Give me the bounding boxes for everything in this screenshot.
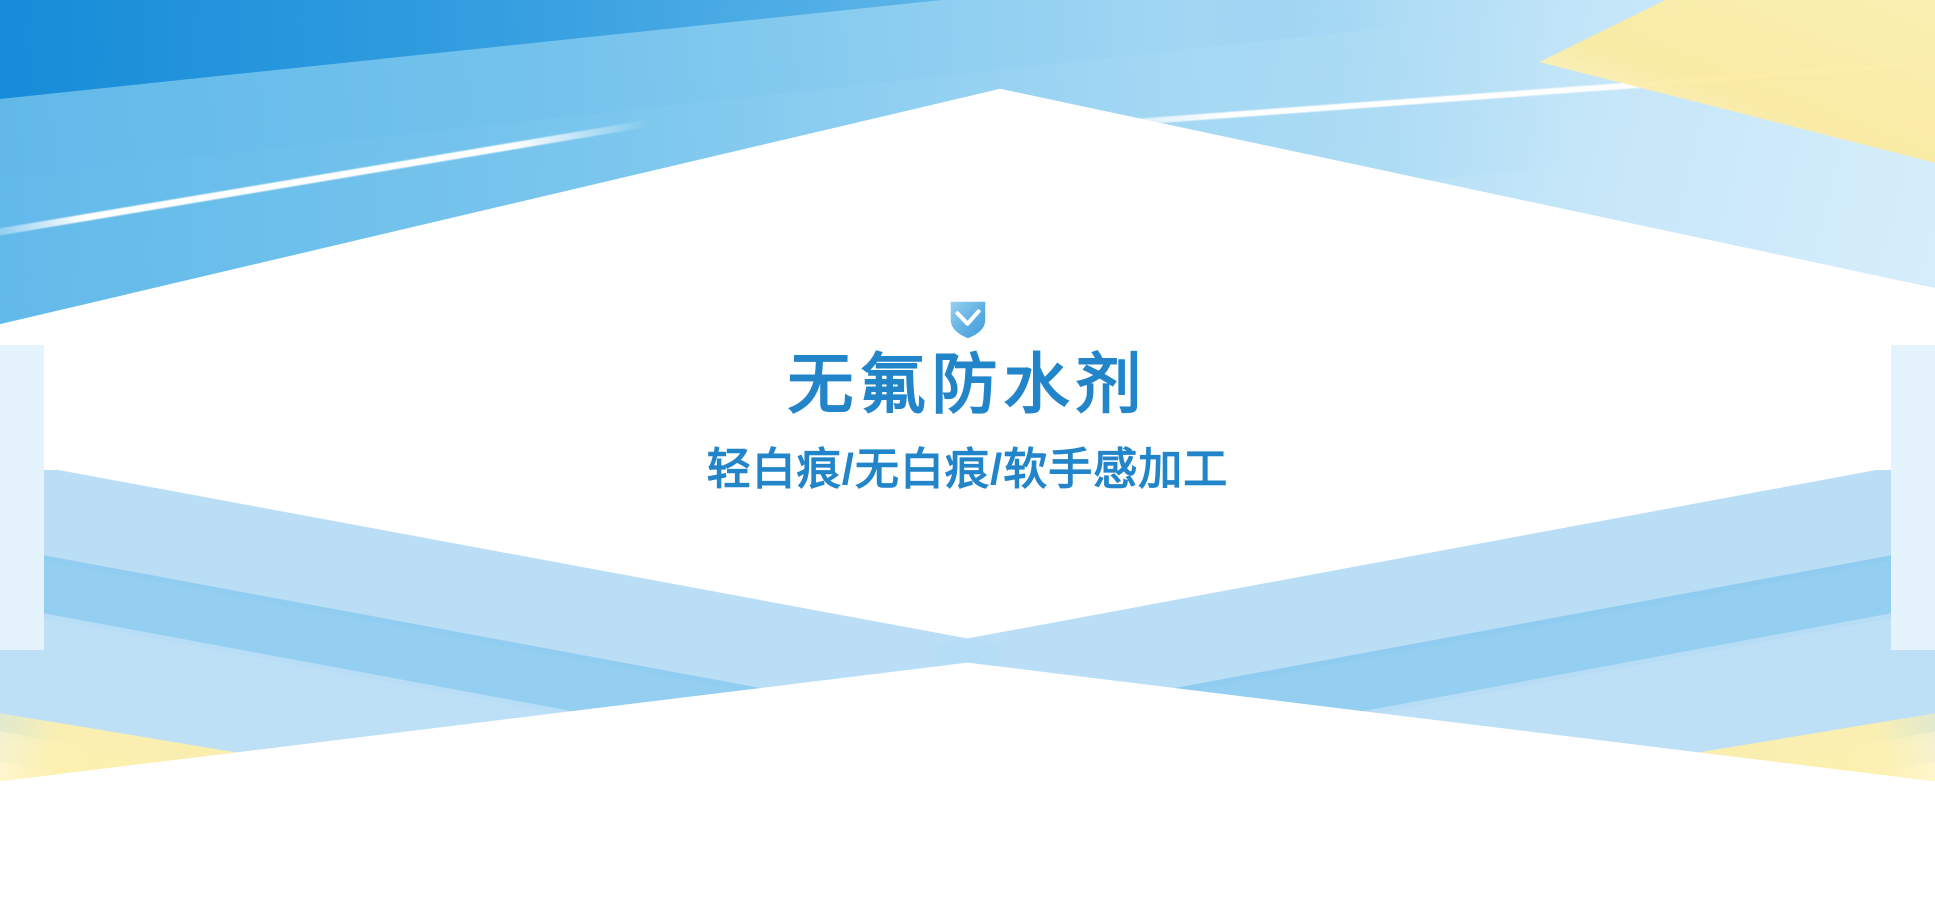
shield-check-icon — [945, 296, 991, 342]
page-subtitle: 轻白痕/无白痕/软手感加工 — [707, 444, 1228, 497]
page-title: 无氟防水剂 — [788, 346, 1148, 424]
product-banner: 无氟防水剂 轻白痕/无白痕/软手感加工 — [0, 0, 1935, 920]
banner-content: 无氟防水剂 轻白痕/无白痕/软手感加工 — [0, 0, 1935, 920]
